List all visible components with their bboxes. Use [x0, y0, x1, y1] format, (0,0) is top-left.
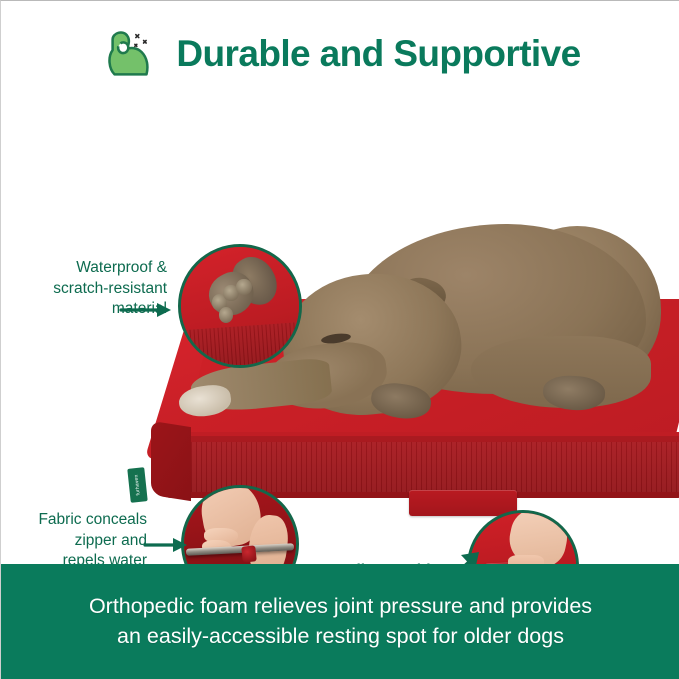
fingers-under-handle	[508, 555, 544, 564]
product-photo-stage: furhaven	[1, 106, 679, 564]
brand-tag-label: furhaven	[133, 474, 141, 496]
banner-line: Orthopedic foam relieves joint pressure …	[21, 592, 661, 622]
paw-toe	[236, 279, 251, 296]
banner-line: an easily-accessible resting spot for ol…	[21, 622, 661, 652]
arrow-up-right-icon	[439, 549, 485, 564]
callout-label-zipper: Fabric conceals zipper and repels water	[7, 510, 147, 564]
dog-front-paw	[177, 383, 233, 420]
paws-on-red-fabric-inset	[178, 244, 302, 368]
arrow-right-icon	[119, 301, 175, 319]
inset-zipper-image	[184, 488, 296, 564]
zipper-pull	[241, 546, 257, 563]
callout-line: Waterproof &	[15, 258, 167, 279]
flexed-bicep-icon	[100, 24, 162, 86]
callout-line: repels water	[7, 551, 147, 564]
arrow-right-icon	[143, 536, 191, 554]
footer-banner-text: Orthopedic foam relieves joint pressure …	[21, 592, 661, 651]
hand-opening-zipper-inset	[181, 485, 299, 564]
sparkle-marks	[135, 34, 146, 46]
callout-line: scratch-resistant	[15, 279, 167, 300]
callout-line: Fabric conceals	[7, 510, 147, 531]
footer-banner: Orthopedic foam relieves joint pressure …	[1, 564, 679, 679]
paw-toe	[219, 307, 233, 322]
inset-material-image	[181, 247, 299, 365]
header: Durable and Supportive	[1, 1, 679, 106]
callout-line: zipper and	[7, 531, 147, 552]
brand-tag: furhaven	[127, 467, 147, 503]
inset-handle-image	[470, 513, 576, 564]
page-title: Durable and Supportive	[176, 33, 580, 75]
infographic-page: Durable and Supportive furhaven	[0, 0, 679, 679]
